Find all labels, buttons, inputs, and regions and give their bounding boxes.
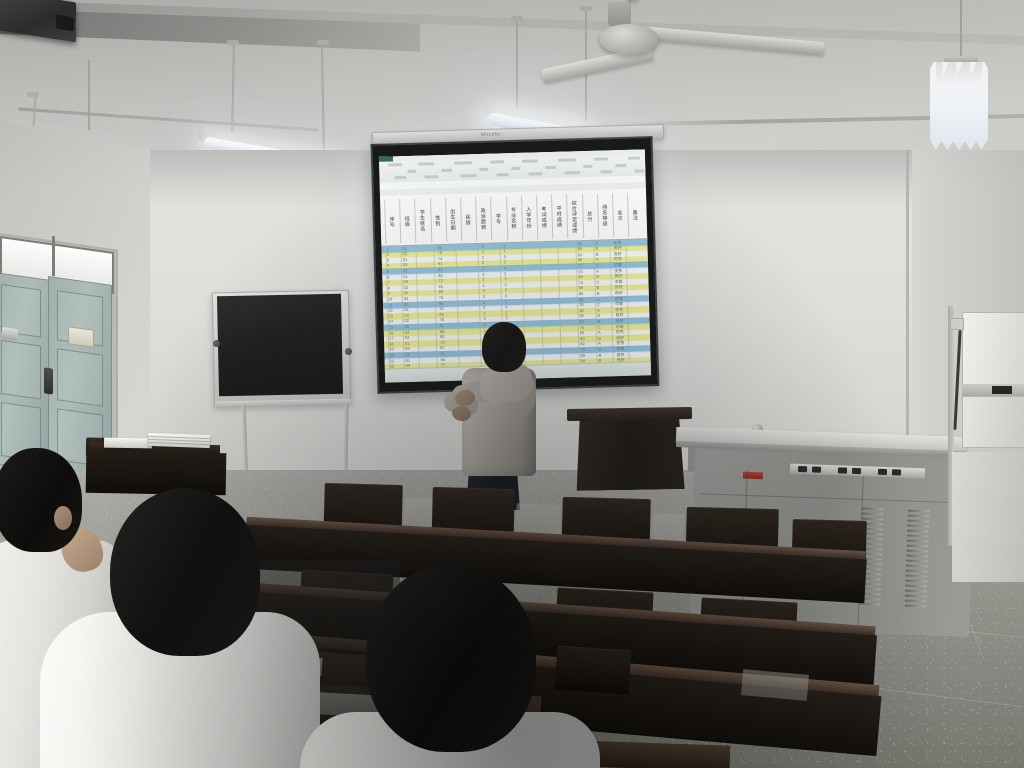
ceiling-fan-motor [600,24,658,54]
door-leaf-left[interactable] [0,272,50,472]
door-sign-plate [68,326,94,348]
spreadsheet-column-header[interactable]: 班级 [399,199,412,243]
light-rod-cap [580,6,592,11]
ribbon-control[interactable] [407,170,416,173]
spreadsheet-column-header[interactable]: 序号 [384,199,397,243]
ribbon-control[interactable] [418,162,434,165]
desk-front-panel [86,451,227,495]
mobile-blackboard[interactable] [217,294,343,397]
spreadsheet-column-header[interactable]: 政治面貌 [475,197,488,241]
ribbon-control[interactable] [460,174,476,177]
light-rod-cap [317,40,329,45]
projector-lens-icon [56,15,74,32]
spreadsheet-column-header[interactable]: 出生日期 [445,198,458,242]
ribbon-control[interactable] [528,172,542,175]
ribbon-control[interactable] [583,165,592,168]
spreadsheet-column-header[interactable]: 备注 [627,193,640,237]
ribbon-control[interactable] [594,157,608,160]
ceiling-fan-hub [608,2,630,26]
ribbon-control[interactable] [454,161,472,165]
classroom-photo-scene: Mircolor 序号班级学生姓名性别出生日期民族政治面貌学号专业名称入学年份考… [0,0,1024,768]
spreadsheet-column-header[interactable]: 名次 [612,193,625,237]
blackboard-pivot-knob[interactable] [213,340,220,347]
spreadsheet-header-row: 序号班级学生姓名性别出生日期民族政治面貌学号专业名称入学年份考试成绩平时成绩综合… [380,188,647,246]
light-rod-center-a [516,20,518,116]
ribbon-control[interactable] [545,166,556,169]
spreadsheet-column-header[interactable]: 平时成绩 [551,195,564,239]
ribbon-control[interactable] [388,163,402,166]
spreadsheet-column-header[interactable]: 总分 [582,194,595,238]
pendant-lamp-rod [960,0,962,58]
student-left-ear [54,506,72,530]
ribbon-control[interactable] [490,160,504,163]
spreadsheet-column-header[interactable]: 考试成绩 [536,195,549,239]
stack-of-papers [148,433,210,448]
wall-unit-display [992,386,1012,394]
spreadsheet-column-header[interactable]: 性别 [430,198,443,242]
ceiling-pipe-vertical [88,60,90,130]
light-rod-cap [27,92,39,97]
door-handle[interactable] [44,367,53,394]
spreadsheet-column-header[interactable]: 民族 [460,197,473,241]
light-rod-cap [227,40,239,45]
wall-mounted-unit-mid [962,396,1024,448]
ribbon-control[interactable] [424,175,438,178]
transom-mullion [52,236,55,276]
spreadsheet-column-header[interactable]: 专业名称 [506,196,519,240]
ribbon-control[interactable] [511,167,520,170]
wall-mounted-unit-top [962,312,1024,386]
spreadsheet-column-header[interactable]: 入学年份 [521,195,534,239]
classroom-seat-back[interactable] [555,645,632,694]
light-rod-cap [511,16,523,21]
spreadsheet-column-header[interactable]: 综合评定成绩 [566,194,579,238]
door-lock-plate[interactable] [2,327,18,341]
podium-top-surface [567,407,692,421]
screen-brand-label: Mircolor [481,131,501,138]
ribbon-control[interactable] [628,156,640,159]
presenter-head [482,322,526,372]
ribbon-control[interactable] [394,176,406,179]
wall-mounted-unit-lower [952,452,1024,582]
ribbon-control[interactable] [564,171,580,174]
wall-unit-clip [950,318,964,330]
ribbon-control[interactable] [441,169,452,172]
ribbon-control[interactable] [496,173,508,176]
student-left-head [0,448,82,552]
ribbon-control[interactable] [634,169,644,172]
ribbon-control[interactable] [558,158,576,162]
spreadsheet-column-header[interactable]: 学生姓名 [414,198,427,242]
stack-of-papers [104,438,152,449]
ribbon-control[interactable] [479,168,488,171]
spreadsheet-column-header[interactable]: 学号 [490,196,503,240]
ribbon-control[interactable] [615,164,626,167]
ribbon-control[interactable] [522,159,538,162]
ribbon-control[interactable] [600,170,612,173]
blackboard-pivot-knob[interactable] [345,348,352,355]
spreadsheet-column-header[interactable]: 排名等级 [597,193,610,237]
cabinet-vent [904,510,929,611]
student-front-head [366,564,536,752]
wooden-podium [575,417,684,491]
